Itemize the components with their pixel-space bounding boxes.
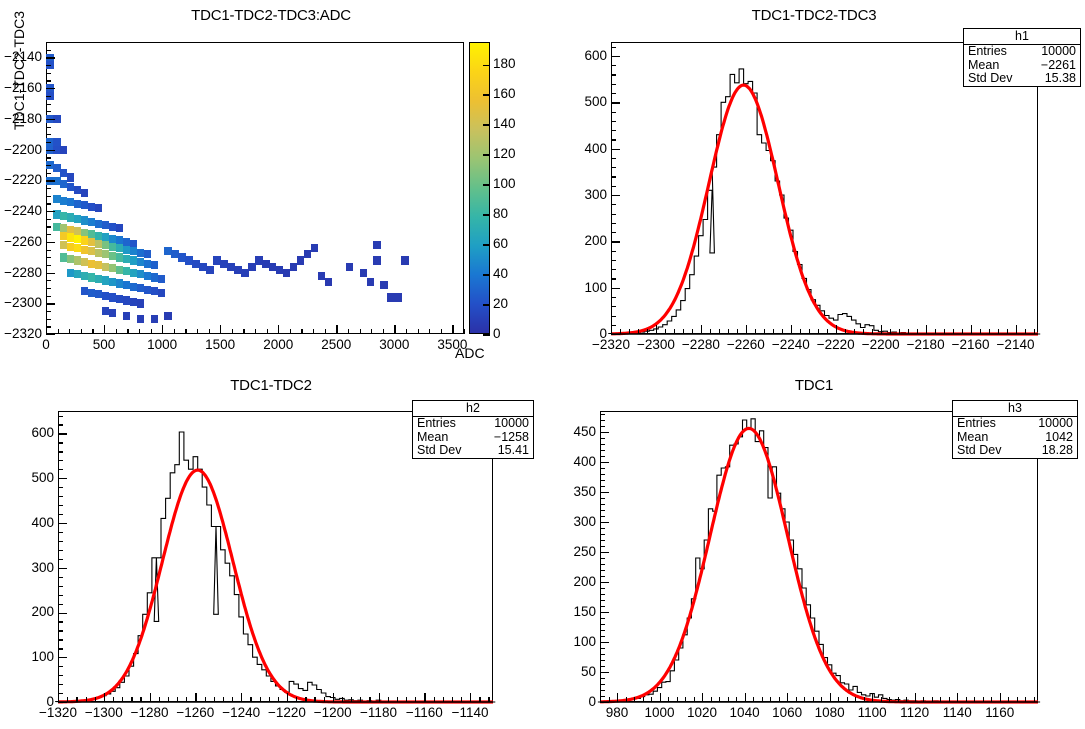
x-tick [127, 329, 128, 334]
y-tick [58, 657, 67, 658]
y-tick [46, 80, 51, 81]
stats-h2-entries-row: Entries 10000 [413, 417, 533, 431]
x-tick [863, 329, 864, 334]
x-tick [626, 697, 627, 702]
palette-tick [483, 244, 490, 246]
x-tick [342, 697, 343, 702]
y-tick [611, 334, 620, 335]
y-tick [600, 546, 605, 547]
stats-h3-std-label: Std Dev [957, 444, 1011, 458]
y-tick [58, 460, 63, 461]
x-tick-label: 1500 [194, 337, 246, 352]
gaussian-fit-curve [611, 85, 1038, 334]
x-tick [86, 697, 87, 702]
y-tick [611, 47, 616, 48]
x-tick [406, 697, 407, 702]
stats-h3-mean-label: Mean [957, 431, 998, 445]
x-tick [379, 693, 380, 702]
y-tick [600, 672, 609, 673]
y-tick [46, 134, 51, 135]
x-tick [953, 329, 954, 334]
y-tick [58, 505, 63, 506]
y-tick [600, 606, 605, 607]
x-tick [58, 329, 59, 334]
y-tick [600, 528, 605, 529]
x-tick [325, 329, 326, 334]
y-tick [46, 150, 55, 151]
x-tick [406, 329, 407, 334]
y-tick-label: 300 [567, 187, 607, 202]
y-tick [46, 65, 51, 66]
heatmap-cell [137, 315, 145, 323]
x-tick [441, 329, 442, 334]
x-tick [796, 697, 797, 702]
histogram-step [598, 419, 1040, 702]
x-tick [290, 329, 291, 334]
pad-tdc1-tdc2-tdc3[interactable]: TDC1-TDC2-TDC3 −2320−2300−2280−2260−2240… [543, 0, 1085, 365]
y-tick [58, 559, 63, 560]
y-tick [600, 414, 605, 415]
y-tick-label: 400 [567, 141, 607, 156]
y-tick [600, 522, 609, 523]
x-tick [685, 697, 686, 702]
x-tick [702, 693, 703, 702]
y-tick [611, 306, 616, 307]
y-tick [58, 433, 67, 434]
y-tick [600, 486, 605, 487]
y-tick [611, 93, 616, 94]
pad1-x-axis-title: ADC [455, 345, 485, 361]
y-tick [600, 654, 605, 655]
x-tick [643, 697, 644, 702]
x-tick [162, 325, 163, 334]
pad1-title: TDC1-TDC2-TDC3:ADC [0, 7, 542, 24]
x-tick [791, 325, 792, 334]
heatmap-cell [367, 278, 375, 286]
y-tick [600, 684, 605, 685]
histogram-step [56, 432, 496, 702]
y-tick [600, 450, 605, 451]
stats-h1-entries-value: 10000 [1041, 45, 1076, 59]
x-tick [81, 329, 82, 334]
y-tick [611, 316, 616, 317]
y-tick [58, 613, 67, 614]
x-tick [159, 697, 160, 702]
x-tick [917, 329, 918, 334]
heatmap-cell [137, 299, 145, 307]
y-tick-label: 350 [556, 484, 596, 499]
x-tick [651, 697, 652, 702]
heatmap-cell [401, 256, 409, 264]
y-tick [46, 303, 55, 304]
x-tick [296, 697, 297, 702]
y-tick-label: 300 [556, 514, 596, 529]
y-tick [600, 678, 605, 679]
x-tick [647, 329, 648, 334]
y-tick [600, 696, 605, 697]
y-tick [58, 684, 63, 685]
y-tick [611, 167, 616, 168]
stats-h1-entries-label: Entries [968, 45, 1017, 59]
x-tick [58, 693, 59, 702]
heatmap-cell [394, 293, 402, 301]
x-tick [250, 697, 251, 702]
y-tick [46, 226, 51, 227]
y-tick [58, 639, 63, 640]
stats-box-h1[interactable]: h1 Entries 10000 Mean −2261 Std Dev 15.3… [963, 28, 1081, 87]
heatmap-cell [164, 312, 172, 320]
y-tick [600, 564, 605, 565]
y-tick [611, 176, 616, 177]
x-tick-label: 3000 [368, 337, 420, 352]
gaussian-fit-curve [58, 470, 493, 702]
x-tick [174, 329, 175, 334]
y-tick-label: 100 [567, 280, 607, 295]
y-tick [600, 534, 605, 535]
x-tick [69, 329, 70, 334]
y-tick-label: −2220 [0, 172, 42, 187]
heatmap-cell [206, 266, 214, 274]
x-tick [267, 329, 268, 334]
x-tick [779, 697, 780, 702]
x-tick [827, 329, 828, 334]
x-tick [209, 329, 210, 334]
y-tick [58, 442, 63, 443]
palette-tick [483, 94, 490, 96]
y-tick-label: 200 [556, 574, 596, 589]
x-tick [150, 693, 151, 702]
y-tick [58, 702, 67, 703]
y-tick [58, 586, 63, 587]
x-tick [305, 697, 306, 702]
y-tick [46, 127, 51, 128]
x-tick [764, 329, 765, 334]
palette-tick-label: 160 [493, 86, 516, 101]
stats-box-h2[interactable]: h2 Entries 10000 Mean −1258 Std Dev 15.4… [412, 400, 534, 459]
stats-h3-name: h3 [953, 401, 1077, 417]
y-tick [600, 492, 609, 493]
stats-h2-mean-row: Mean −1258 [413, 431, 533, 445]
y-tick [600, 456, 605, 457]
y-tick [611, 56, 620, 57]
heatmap-cell [311, 244, 319, 252]
y-tick [58, 532, 63, 533]
x-tick [656, 325, 657, 334]
x-tick-label: −2140 [986, 337, 1046, 352]
heatmap-cell [81, 189, 89, 197]
x-tick [617, 693, 618, 702]
y-tick [600, 612, 609, 613]
y-tick [58, 621, 63, 622]
y-tick [611, 223, 616, 224]
x-tick [287, 693, 288, 702]
y-tick-label: −2200 [0, 142, 42, 157]
x-tick [397, 697, 398, 702]
y-tick-label: 600 [14, 425, 54, 440]
x-tick [314, 697, 315, 702]
y-tick [600, 480, 605, 481]
y-tick [46, 311, 51, 312]
x-tick [881, 325, 882, 334]
y-tick [600, 432, 609, 433]
x-tick [821, 697, 822, 702]
x-tick [122, 697, 123, 702]
heatmap-cell [360, 269, 368, 277]
y-tick [611, 251, 616, 252]
y-tick [46, 257, 51, 258]
pad-tdc-vs-adc[interactable]: TDC1-TDC2-TDC3:ADC TDC1-TDC2-TDC3 050010… [0, 0, 542, 365]
x-tick [470, 693, 471, 702]
y-tick [46, 142, 51, 143]
x-tick [131, 697, 132, 702]
y-tick [58, 478, 67, 479]
palette-tick-label: 80 [493, 206, 508, 221]
palette-gradient [470, 43, 489, 333]
y-tick [58, 648, 63, 649]
x-tick [1025, 329, 1026, 334]
y-tick-label: 250 [556, 544, 596, 559]
x-tick [168, 697, 169, 702]
y-tick-label: −2280 [0, 265, 42, 280]
x-tick [243, 329, 244, 334]
y-tick [46, 165, 51, 166]
pad-tdc1[interactable]: TDC1 98010001020104010601080110011201140… [543, 366, 1085, 729]
stats-box-h3[interactable]: h3 Entries 10000 Mean 1042 Std Dev 18.28 [952, 400, 1078, 459]
palette-tick-label: 40 [493, 266, 508, 281]
y-tick [600, 594, 605, 595]
y-tick [58, 541, 63, 542]
palette-tick-label: 180 [493, 56, 516, 71]
x-tick-label: −1140 [440, 705, 500, 720]
x-tick [787, 693, 788, 702]
stats-h2-entries-label: Entries [417, 417, 466, 431]
x-tick [638, 329, 639, 334]
x-tick [944, 329, 945, 334]
y-tick [600, 438, 605, 439]
y-tick [58, 469, 63, 470]
x-tick [443, 697, 444, 702]
stats-h2-std-row: Std Dev 15.41 [413, 444, 533, 458]
x-tick [838, 697, 839, 702]
x-tick [464, 329, 465, 334]
x-tick [830, 693, 831, 702]
y-tick [600, 474, 605, 475]
x-tick [872, 329, 873, 334]
x-tick [415, 697, 416, 702]
stats-h1-std-label: Std Dev [968, 72, 1022, 86]
x-tick [719, 697, 720, 702]
x-tick [269, 697, 270, 702]
x-tick [966, 697, 967, 702]
y-tick [600, 468, 605, 469]
x-tick [620, 329, 621, 334]
palette-tick [483, 184, 490, 186]
x-tick [991, 697, 992, 702]
y-tick [611, 186, 616, 187]
heatmap-cell [373, 256, 381, 264]
y-tick [46, 50, 51, 51]
palette-tick-label: 20 [493, 296, 508, 311]
heatmap-cell [109, 309, 117, 317]
y-tick [611, 74, 616, 75]
x-tick [116, 329, 117, 334]
y-tick [58, 514, 63, 515]
y-tick [600, 552, 609, 553]
x-tick [836, 325, 837, 334]
x-tick [220, 325, 221, 334]
y-tick [46, 157, 51, 158]
y-tick [611, 149, 620, 150]
y-tick [46, 96, 51, 97]
y-tick [611, 102, 620, 103]
x-tick [660, 693, 661, 702]
y-tick [611, 65, 616, 66]
palette-tick [483, 154, 490, 156]
x-tick [872, 693, 873, 702]
x-tick [906, 697, 907, 702]
stats-h1-name: h1 [964, 29, 1080, 45]
y-tick [46, 326, 51, 327]
x-tick [479, 697, 480, 702]
x-tick [383, 329, 384, 334]
palette-tick [483, 334, 490, 336]
x-tick [813, 697, 814, 702]
x-tick [845, 329, 846, 334]
x-tick [746, 325, 747, 334]
y-tick [58, 496, 63, 497]
palette-tick [483, 65, 490, 67]
y-tick-label: 500 [567, 94, 607, 109]
y-tick-label: 500 [14, 470, 54, 485]
y-tick-label: 100 [14, 649, 54, 664]
y-tick-label: −2300 [0, 295, 42, 310]
x-tick [185, 329, 186, 334]
x-tick [736, 697, 737, 702]
y-tick [46, 265, 51, 266]
stats-h2-name: h2 [413, 401, 533, 417]
y-tick-label: 150 [556, 604, 596, 619]
color-palette-bar[interactable] [469, 42, 490, 334]
y-tick [58, 487, 63, 488]
heatmap-cell [123, 312, 131, 320]
y-tick [600, 624, 605, 625]
y-tick [600, 702, 609, 703]
y-tick [46, 196, 51, 197]
x-tick [488, 697, 489, 702]
x-tick [278, 697, 279, 702]
x-tick [336, 325, 337, 334]
pad-tdc1-tdc2[interactable]: TDC1-TDC2 −1320−1300−1280−1260−1240−1220… [0, 366, 542, 729]
x-tick [773, 329, 774, 334]
x-tick [452, 325, 453, 334]
stats-h3-entries-row: Entries 10000 [953, 417, 1077, 431]
x-tick [461, 697, 462, 702]
x-tick-label: 500 [78, 337, 130, 352]
y-tick [600, 504, 605, 505]
x-tick [104, 325, 105, 334]
x-tick [260, 697, 261, 702]
palette-tick [483, 214, 490, 216]
palette-tick-label: 0 [493, 326, 501, 341]
y-tick-label: 200 [567, 233, 607, 248]
x-tick-label: 1160 [970, 705, 1030, 720]
x-tick [898, 697, 899, 702]
x-tick [139, 329, 140, 334]
y-tick [611, 325, 616, 326]
x-tick [818, 329, 819, 334]
y-tick [611, 232, 616, 233]
x-tick [710, 329, 711, 334]
x-tick [753, 697, 754, 702]
x-tick [394, 325, 395, 334]
root-canvas: TDC1-TDC2-TDC3:ADC TDC1-TDC2-TDC3 050010… [0, 0, 1085, 729]
y-tick [46, 242, 55, 243]
x-tick [881, 697, 882, 702]
heatmap-cell [151, 315, 159, 323]
y-tick [600, 600, 605, 601]
y-tick [46, 188, 51, 189]
x-tick [962, 329, 963, 334]
x-tick [278, 325, 279, 334]
x-tick [940, 697, 941, 702]
y-tick [46, 173, 51, 174]
x-tick [197, 329, 198, 334]
y-tick [600, 690, 605, 691]
x-tick [692, 329, 693, 334]
y-tick [600, 588, 605, 589]
y-tick [58, 675, 63, 676]
y-tick [58, 568, 67, 569]
x-tick [1008, 697, 1009, 702]
palette-tick-label: 140 [493, 116, 516, 131]
y-tick [58, 693, 63, 694]
x-tick [782, 329, 783, 334]
histogram-step [609, 69, 1040, 334]
x-tick [313, 329, 314, 334]
x-tick [424, 693, 425, 702]
x-tick [324, 697, 325, 702]
x-tick [434, 697, 435, 702]
x-tick-label: 1000 [136, 337, 188, 352]
x-tick [67, 697, 68, 702]
gaussian-fit-curve [600, 428, 1038, 702]
stats-h3-std-row: Std Dev 18.28 [953, 444, 1077, 458]
y-tick [46, 180, 55, 181]
y-tick [58, 523, 67, 524]
y-tick [611, 158, 616, 159]
x-tick [255, 329, 256, 334]
y-tick-label: −2140 [0, 49, 42, 64]
x-tick [915, 693, 916, 702]
y-tick-label: −2160 [0, 80, 42, 95]
y-tick-label: 600 [567, 48, 607, 63]
stats-h2-mean-value: −1258 [494, 431, 529, 445]
pad1-plot-frame [46, 42, 464, 334]
y-tick [46, 73, 51, 74]
y-tick [46, 57, 55, 58]
x-tick [864, 697, 865, 702]
y-tick [58, 595, 63, 596]
x-tick [452, 697, 453, 702]
x-tick [889, 697, 890, 702]
x-tick [755, 329, 756, 334]
y-tick [46, 203, 51, 204]
y-tick [600, 636, 605, 637]
y-tick [611, 112, 616, 113]
x-tick [104, 693, 105, 702]
x-tick [728, 697, 729, 702]
x-tick [76, 697, 77, 702]
